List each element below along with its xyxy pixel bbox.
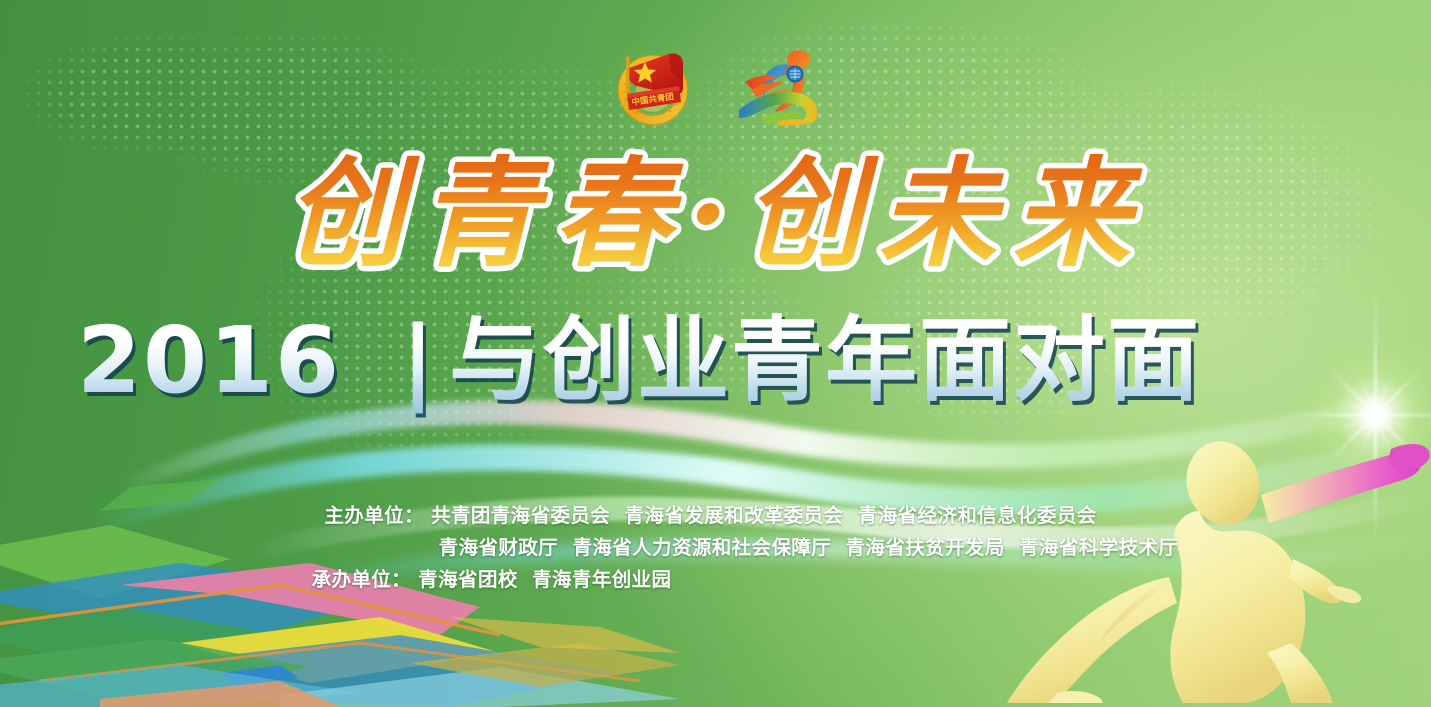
host-line-2: 青海省财政厅 青海省人力资源和社会保障厅 青海省扶贫开发局 青海省科学技术厅 [0, 532, 1431, 564]
chuangqingchun-runner-logo [733, 38, 825, 130]
host-line-1: 主办单位： 共青团青海省委员会 青海省发展和改革委员会 青海省经济和信息化委员会 [0, 500, 1431, 532]
event-poster: 中国共青团 [0, 0, 1431, 707]
runner-silhouette [961, 407, 1431, 707]
headline-calligraphy: 创青春·创未来 创青春·创未来 [0, 137, 1431, 297]
subtitle-divider: | [401, 307, 437, 414]
subtitle-year: 2016 [77, 307, 341, 414]
headline-text: 创青春·创未来 [285, 144, 1146, 283]
subtitle-block: 2016 | 与创业青年面对面 2016 | 与创业青年面对面 [0, 296, 1431, 422]
colorful-ribbon-shapes [0, 467, 780, 707]
coorganizer-line: 承办单位： 青海省团校 青海青年创业园 [0, 564, 1431, 596]
communist-youth-league-emblem: 中国共青团 [607, 38, 699, 130]
subtitle-main: 与创业青年面对面 [449, 307, 1201, 414]
logo-row: 中国共青团 [0, 28, 1431, 140]
organizer-credits: 主办单位： 共青团青海省委员会 青海省发展和改革委员会 青海省经济和信息化委员会… [0, 500, 1431, 596]
